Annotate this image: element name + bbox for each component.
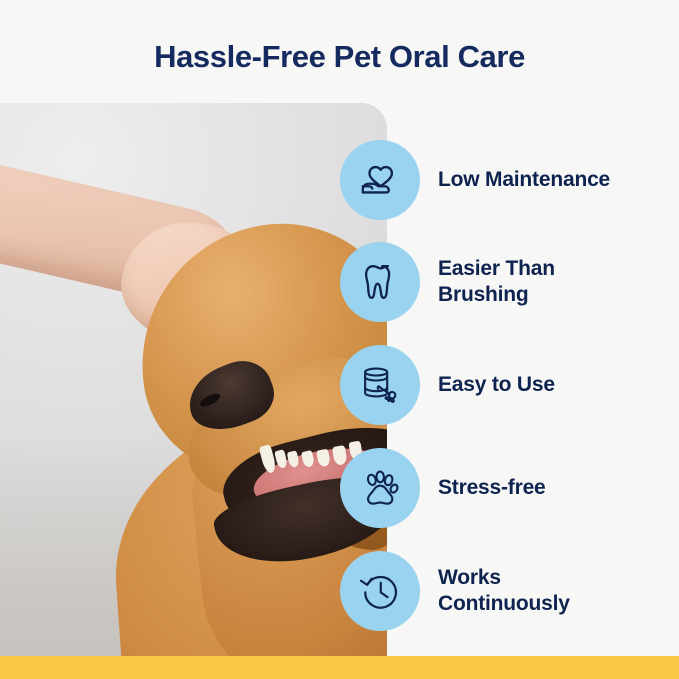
paw-print-icon — [340, 448, 420, 528]
feature-item-low-maintenance: Low Maintenance — [340, 140, 610, 220]
tooth-icon — [340, 242, 420, 322]
clock-refresh-icon — [340, 551, 420, 631]
footer-accent-bar — [0, 656, 679, 679]
feature-item-easier-than-brushing: Easier Than Brushing — [340, 242, 638, 322]
dog-illustration — [0, 103, 387, 656]
heart-in-hand-icon — [340, 140, 420, 220]
feature-item-works-continuously: Works Continuously — [340, 551, 638, 631]
jar-with-scoop-icon — [340, 345, 420, 425]
page-title: Hassle-Free Pet Oral Care — [0, 38, 679, 75]
product-photo-panel — [0, 103, 387, 656]
feature-item-easy-to-use: Easy to Use — [340, 345, 555, 425]
feature-item-stress-free: Stress-free — [340, 448, 546, 528]
feature-label: Easier Than Brushing — [438, 256, 638, 307]
infographic-canvas: Hassle-Free Pet Oral Care — [0, 0, 679, 679]
feature-label: Stress-free — [438, 475, 546, 501]
feature-label: Low Maintenance — [438, 167, 610, 193]
feature-label: Easy to Use — [438, 372, 555, 398]
feature-label: Works Continuously — [438, 565, 638, 616]
